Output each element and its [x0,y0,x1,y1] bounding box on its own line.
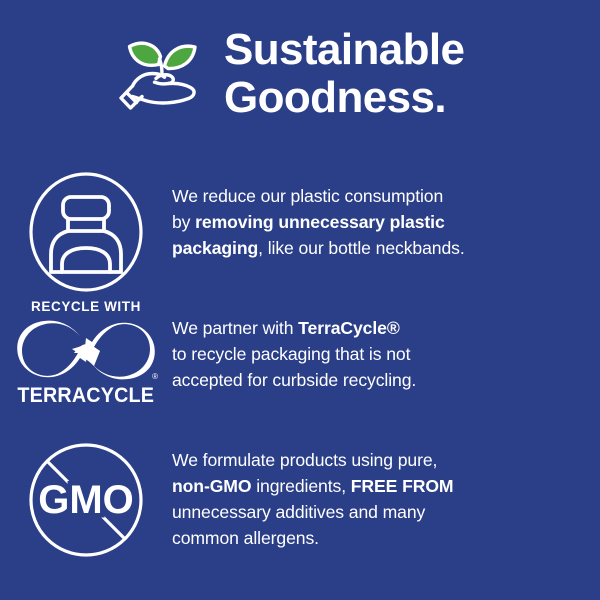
hand-holding-plant-icon [112,22,216,126]
feature-text-line: We partner with TerraCycle® [172,316,586,342]
feature-row-plastic: We reduce our plastic consumptionby remo… [0,168,600,296]
page-title: Sustainable Goodness. [224,26,464,121]
page-title-line-1: Sustainable [224,26,464,74]
feature-text-line: to recycle packaging that is not [172,342,586,368]
feature-text-line: accepted for curbside recycling. [172,368,586,394]
no-gmo-icon: GMO [25,436,147,564]
feature-text-line: We formulate products using pure, [172,448,586,474]
feature-row-terracycle: RECYCLE WITH ® TERRACYCLE We partner wit… [0,300,600,406]
feature-text-line: unnecessary additives and many [172,500,586,526]
feature-text-line: packaging, like our bottle neckbands. [172,236,586,262]
feature-text-line: common allergens. [172,526,586,552]
registered-trademark-icon: ® [152,373,158,381]
terracycle-infinity-arrows-icon: ® [16,320,156,380]
feature-icon-gmo: GMO [0,436,172,564]
feature-icon-terracycle: RECYCLE WITH ® TERRACYCLE [0,300,172,406]
feature-text-plastic: We reduce our plastic consumptionby remo… [172,168,600,262]
header: Sustainable Goodness. [0,22,600,126]
feature-row-gmo: GMO We formulate products using pure,non… [0,436,600,564]
terracycle-top-label: RECYCLE WITH [31,300,141,314]
page-title-line-2: Goodness. [224,74,464,122]
bottle-in-circle-icon [25,168,147,296]
feature-text-line: We reduce our plastic consumption [172,184,586,210]
sustainability-infographic: Sustainable Goodness. W [0,0,600,600]
feature-text-line: by removing unnecessary plastic [172,210,586,236]
feature-text-gmo: We formulate products using pure,non-GMO… [172,436,600,551]
feature-text-terracycle: We partner with TerraCycle®to recycle pa… [172,300,600,394]
terracycle-bottom-label: TERRACYCLE [18,385,155,406]
feature-text-line: non-GMO ingredients, FREE FROM [172,474,586,500]
svg-text:GMO: GMO [38,478,134,522]
feature-icon-plastic [0,168,172,296]
terracycle-logo: RECYCLE WITH ® TERRACYCLE [13,300,159,406]
